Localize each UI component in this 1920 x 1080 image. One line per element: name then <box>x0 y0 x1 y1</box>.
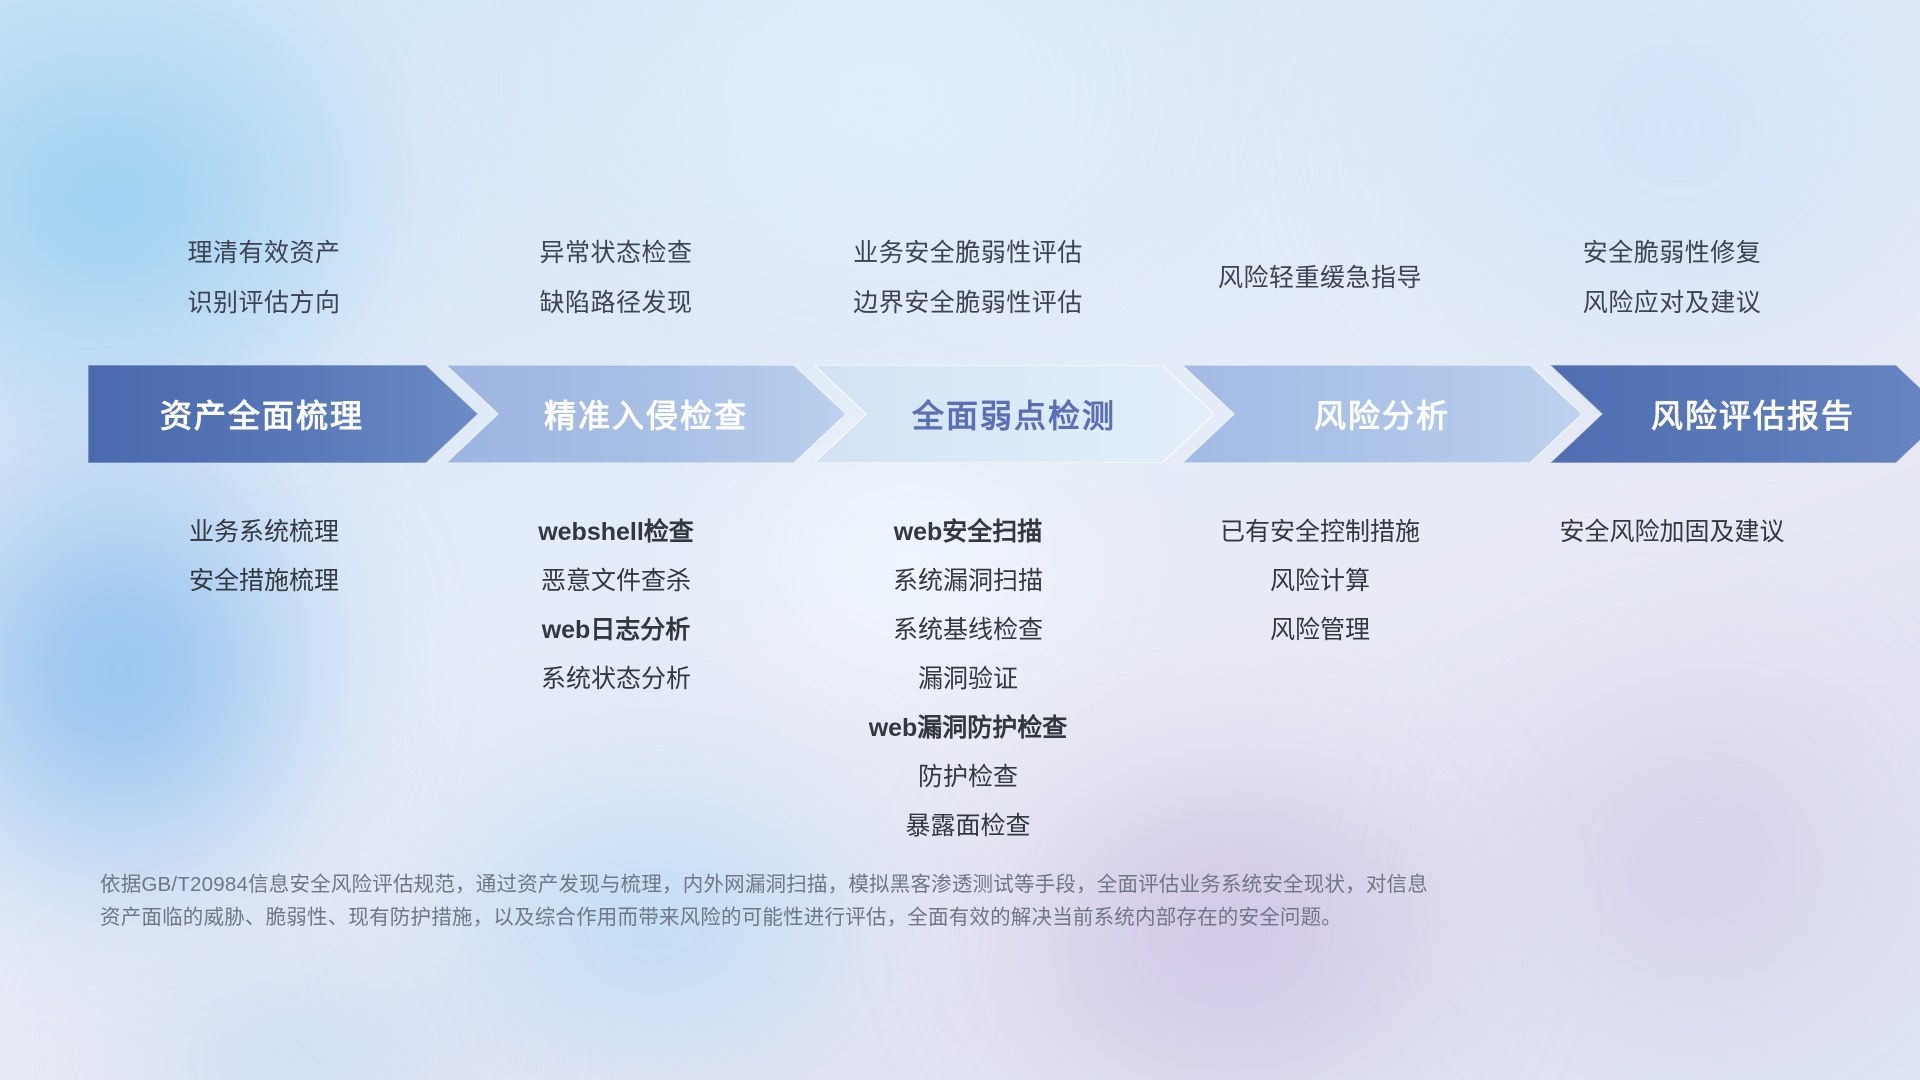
top-descriptor-column: 异常状态检查 缺陷路径发现 <box>440 228 792 328</box>
stage-arrow-5[interactable]: 风险评估报告 <box>1550 365 1920 463</box>
detail-item: web日志分析 <box>440 606 792 655</box>
process-arrow-banner: 资产全面梳理 <box>88 365 1848 463</box>
stage-detail-column: 已有安全控制措施 风险计算 风险管理 <box>1144 508 1496 655</box>
stage-arrow-4[interactable]: 风险分析 <box>1182 365 1582 463</box>
detail-item: 已有安全控制措施 <box>1144 508 1496 557</box>
top-descriptor-column: 风险轻重缓急指导 <box>1144 228 1496 303</box>
detail-item: 系统基线检查 <box>792 606 1144 655</box>
top-descriptor-line: 识别评估方向 <box>88 278 440 328</box>
stage-arrow-2[interactable]: 精准入侵检查 <box>446 365 846 463</box>
top-descriptor-column: 理清有效资产 识别评估方向 <box>88 228 440 328</box>
top-descriptor-line: 风险应对及建议 <box>1496 278 1848 328</box>
stage-detail-column: 安全风险加固及建议 <box>1496 508 1848 557</box>
detail-item: 安全措施梳理 <box>88 557 440 606</box>
top-descriptor-column: 业务安全脆弱性评估 边界安全脆弱性评估 <box>792 228 1144 328</box>
top-descriptor-line: 异常状态检查 <box>440 228 792 278</box>
stage-arrow-label: 风险评估报告 <box>1651 391 1855 437</box>
top-descriptor-line: 缺陷路径发现 <box>440 278 792 328</box>
stage-arrow-label: 资产全面梳理 <box>160 391 364 437</box>
footer-description: 依据GB/T20984信息安全风险评估规范，通过资产发现与梳理，内外网漏洞扫描，… <box>100 868 1620 934</box>
stage-detail-row: 业务系统梳理 安全措施梳理 webshell检查 恶意文件查杀 web日志分析 … <box>88 508 1848 851</box>
footer-line-2: 资产面临的威胁、脆弱性、现有防护措施，以及综合作用而带来风险的可能性进行评估，全… <box>100 901 1620 934</box>
detail-item: 系统状态分析 <box>440 655 792 704</box>
stage-arrow-1[interactable]: 资产全面梳理 <box>88 365 478 463</box>
top-descriptor-line: 风险轻重缓急指导 <box>1144 253 1496 303</box>
detail-item: 风险计算 <box>1144 557 1496 606</box>
detail-item: 风险管理 <box>1144 606 1496 655</box>
detail-item: 恶意文件查杀 <box>440 557 792 606</box>
stage-arrow-label: 精准入侵检查 <box>544 391 748 437</box>
top-descriptor-line: 安全脆弱性修复 <box>1496 228 1848 278</box>
detail-item: web安全扫描 <box>792 508 1144 557</box>
detail-item: 系统漏洞扫描 <box>792 557 1144 606</box>
stage-detail-column: web安全扫描 系统漏洞扫描 系统基线检查 漏洞验证 web漏洞防护检查 防护检… <box>792 508 1144 851</box>
stage-arrow-label: 风险分析 <box>1314 391 1450 437</box>
slide-canvas: 理清有效资产 识别评估方向 异常状态检查 缺陷路径发现 业务安全脆弱性评估 边界… <box>0 0 1920 1080</box>
stage-detail-column: 业务系统梳理 安全措施梳理 <box>88 508 440 606</box>
top-descriptor-line: 边界安全脆弱性评估 <box>792 278 1144 328</box>
stage-detail-column: webshell检查 恶意文件查杀 web日志分析 系统状态分析 <box>440 508 792 704</box>
detail-item: 安全风险加固及建议 <box>1496 508 1848 557</box>
detail-item: 漏洞验证 <box>792 655 1144 704</box>
detail-item: 业务系统梳理 <box>88 508 440 557</box>
stage-arrow-label: 全面弱点检测 <box>912 391 1116 437</box>
top-descriptor-column: 安全脆弱性修复 风险应对及建议 <box>1496 228 1848 328</box>
top-descriptor-line: 理清有效资产 <box>88 228 440 278</box>
top-descriptor-line: 业务安全脆弱性评估 <box>792 228 1144 278</box>
stage-arrow-3[interactable]: 全面弱点检测 <box>814 365 1214 463</box>
detail-item: 防护检查 <box>792 753 1144 802</box>
top-descriptor-row: 理清有效资产 识别评估方向 异常状态检查 缺陷路径发现 业务安全脆弱性评估 边界… <box>88 228 1848 328</box>
detail-item: webshell检查 <box>440 508 792 557</box>
detail-item: web漏洞防护检查 <box>792 704 1144 753</box>
footer-line-1: 依据GB/T20984信息安全风险评估规范，通过资产发现与梳理，内外网漏洞扫描，… <box>100 868 1620 901</box>
detail-item: 暴露面检查 <box>792 802 1144 851</box>
